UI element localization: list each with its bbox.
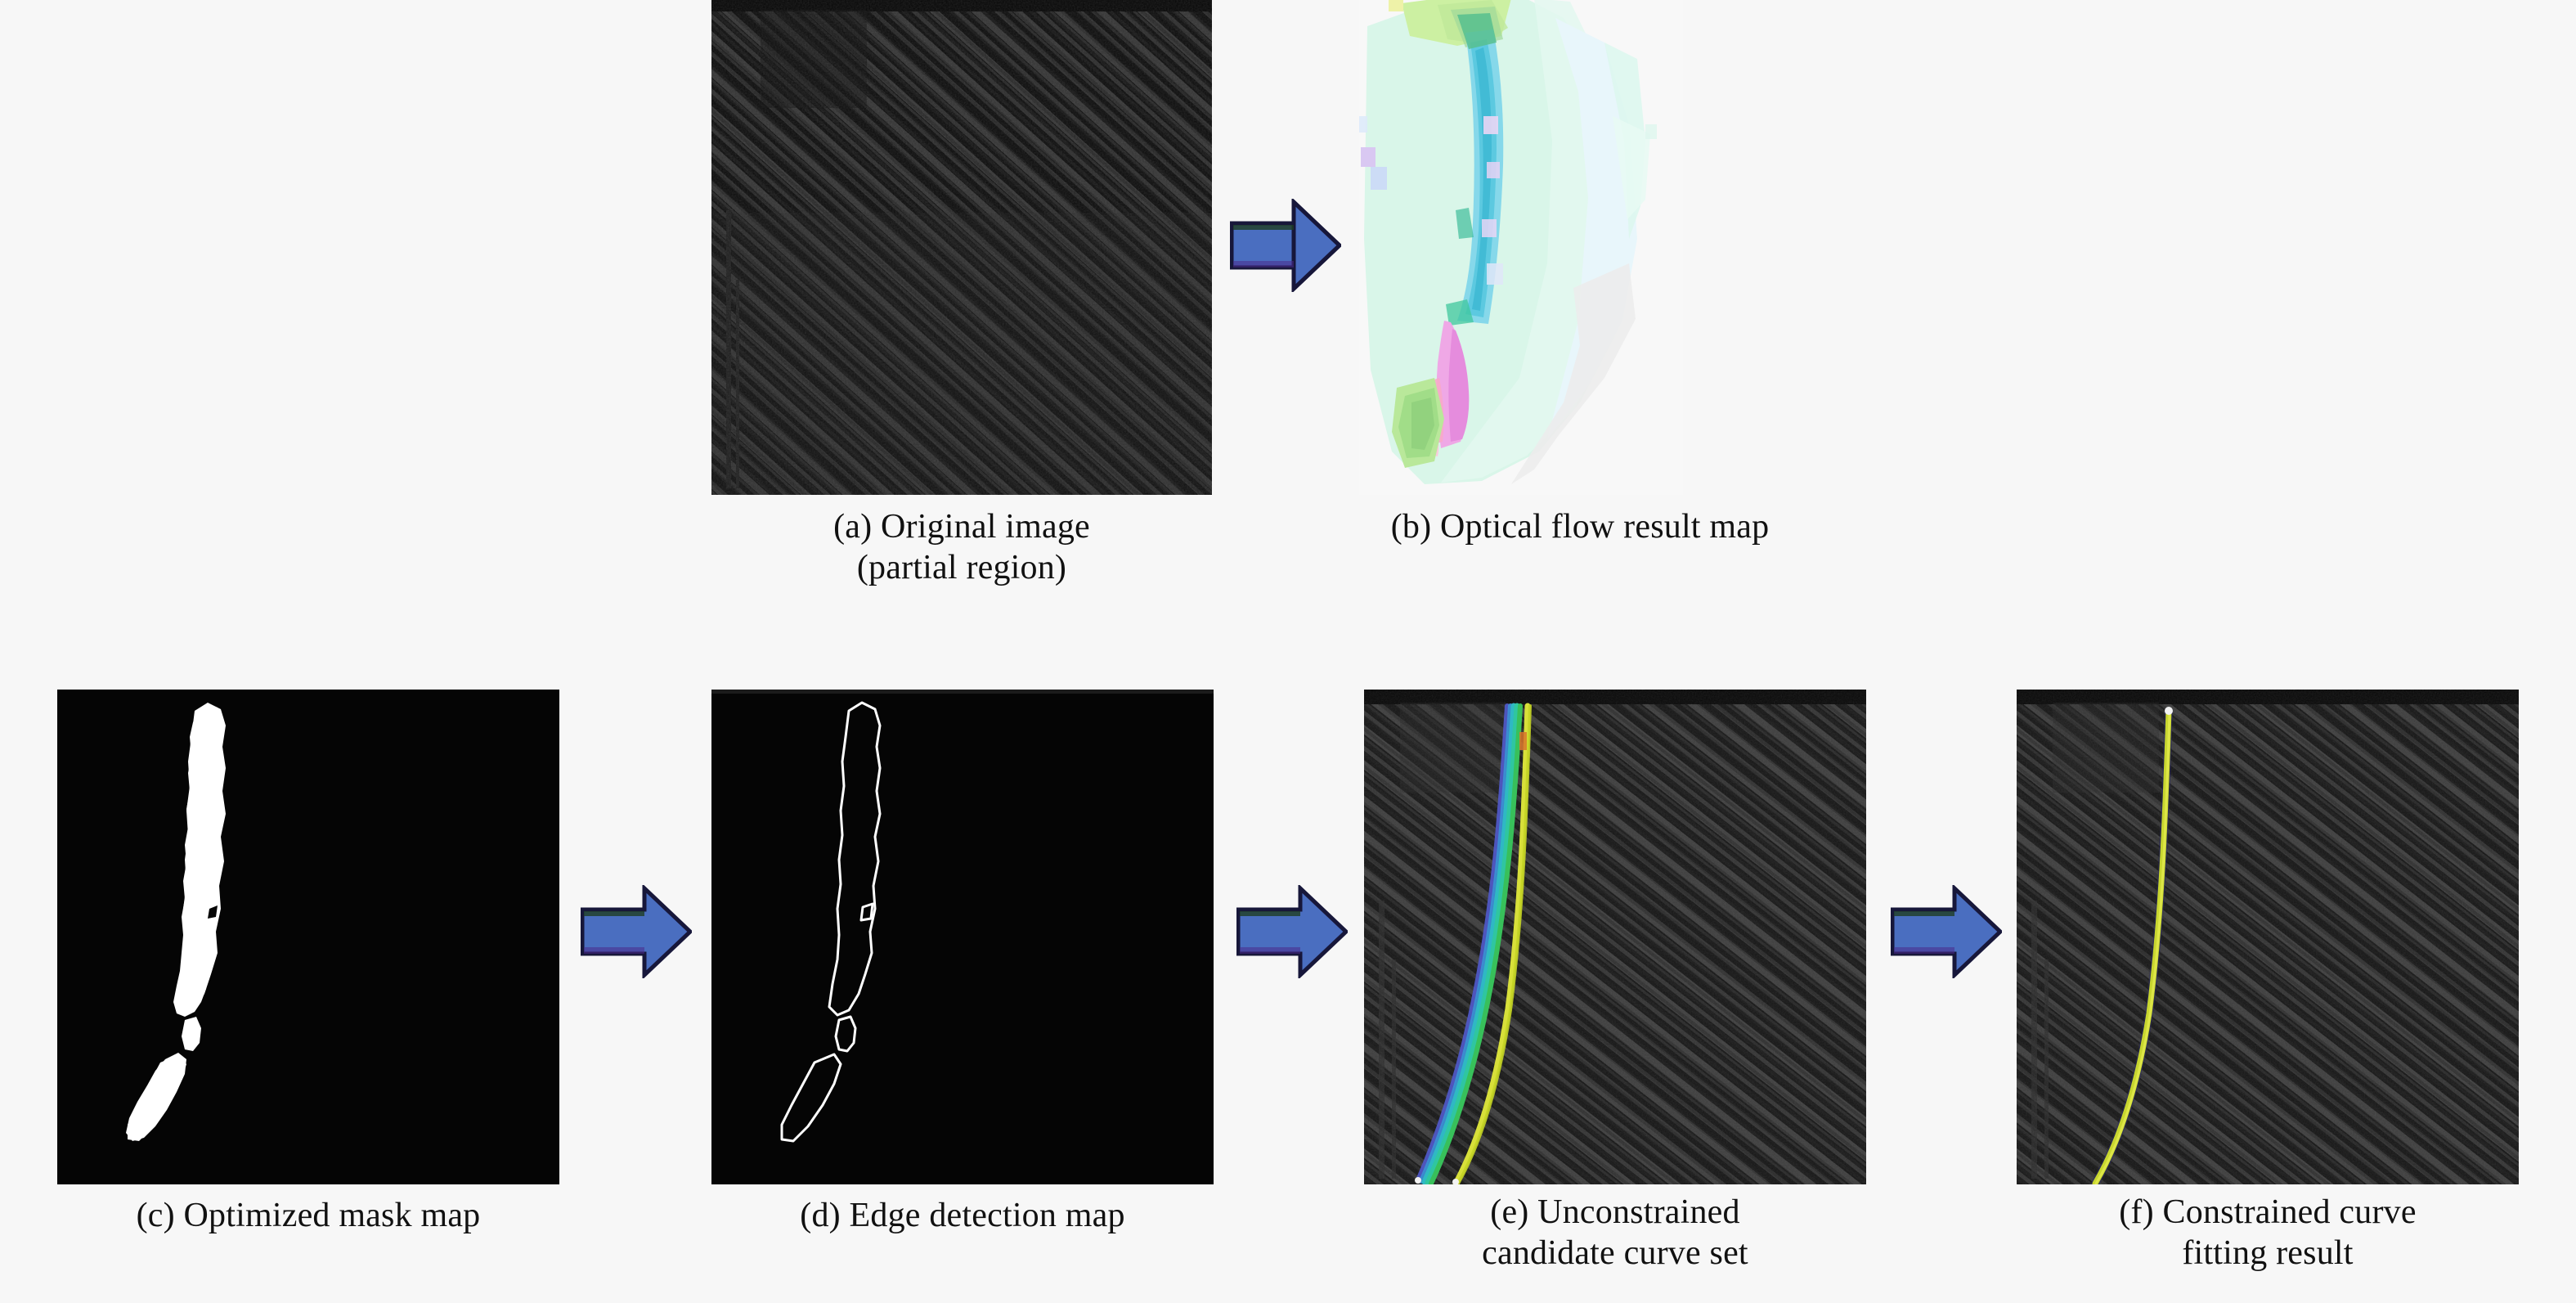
panel-a-original-image [711, 0, 1212, 495]
panel-c-optimized-mask [57, 690, 559, 1184]
caption-panel-d: (d) Edge detection map [711, 1196, 1214, 1237]
caption-panel-b: (b) Optical flow result map [1318, 507, 1842, 548]
right-arrow-icon [1236, 885, 1348, 978]
right-arrow-icon [581, 885, 692, 978]
arrow-c-to-d [581, 885, 692, 978]
arrow-e-to-f [1891, 885, 2002, 978]
panel-f-constrained-fit [2017, 690, 2519, 1184]
arrow-a-to-b [1230, 199, 1341, 292]
figure-root: (a) Original image (partial region) [0, 0, 2576, 1303]
panel-a-image [711, 0, 1212, 495]
arrow-d-to-e [1236, 885, 1348, 978]
panel-c-image [57, 690, 559, 1184]
right-arrow-icon [1230, 199, 1341, 292]
panel-f-image [2017, 690, 2519, 1184]
caption-panel-f: (f) Constrained curve fitting result [2017, 1193, 2519, 1274]
caption-panel-c: (c) Optimized mask map [57, 1196, 559, 1237]
panel-e-image [1364, 690, 1866, 1184]
panel-d-image [711, 690, 1214, 1184]
panel-e-candidate-curves [1364, 690, 1866, 1184]
caption-panel-a: (a) Original image (partial region) [711, 507, 1212, 588]
right-arrow-icon [1891, 885, 2002, 978]
panel-b-optical-flow [1359, 0, 1683, 495]
panel-d-edge-detection [711, 690, 1214, 1184]
caption-panel-e: (e) Unconstrained candidate curve set [1364, 1193, 1866, 1274]
panel-b-image [1359, 0, 1683, 495]
